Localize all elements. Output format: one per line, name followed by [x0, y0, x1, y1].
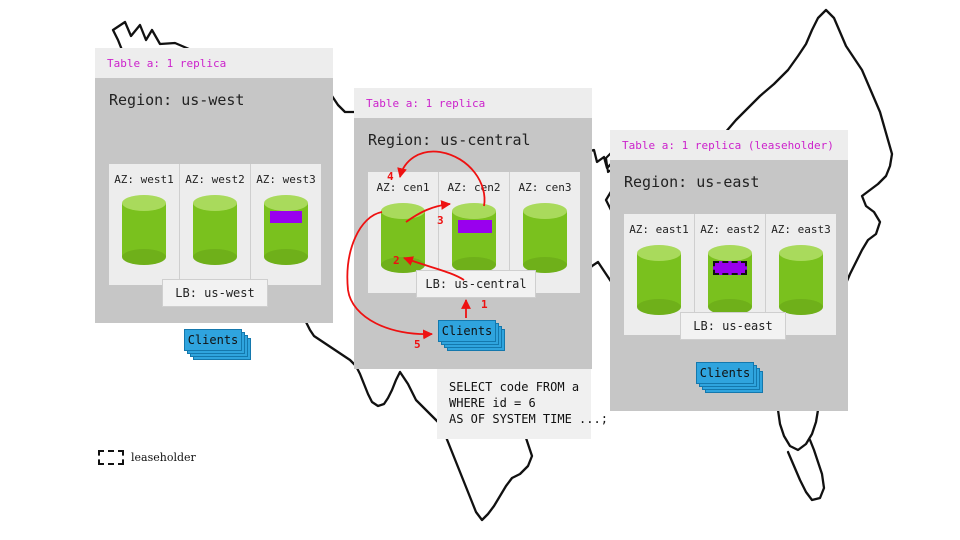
az-label: AZ: east1 [629, 223, 689, 236]
clients-stack-us-central[interactable]: Clients [438, 320, 502, 350]
cylinder-bottom [264, 249, 308, 265]
az-label: AZ: west1 [114, 173, 174, 186]
region-title-us-west: Region: us-west [95, 78, 333, 120]
replica-marker-leaseholder[interactable] [713, 261, 747, 275]
diagram-stage: Table a: 1 replica Region: us-west AZ: w… [0, 0, 960, 540]
region-banner-us-east: Table a: 1 replica (leaseholder) [610, 130, 848, 160]
clients-label[interactable]: Clients [438, 320, 496, 342]
az-label: AZ: east3 [771, 223, 831, 236]
az-west3[interactable]: AZ: west3 [251, 164, 321, 285]
region-title-us-central: Region: us-central [354, 118, 592, 160]
cylinder-bottom [122, 249, 166, 265]
cylinder-top [264, 195, 308, 211]
region-banner-us-central: Table a: 1 replica [354, 88, 592, 118]
node-cylinder[interactable] [523, 203, 567, 273]
node-cylinder[interactable] [779, 245, 823, 315]
cylinder-bottom [193, 249, 237, 265]
node-cylinder[interactable] [381, 203, 425, 273]
cylinder-top [122, 195, 166, 211]
node-cylinder[interactable] [708, 245, 752, 315]
region-panel-us-central[interactable]: Table a: 1 replica Region: us-central AZ… [354, 88, 592, 369]
region-banner-us-west: Table a: 1 replica [95, 48, 333, 78]
cylinder-bottom [637, 299, 681, 315]
sql-query-box: SELECT code FROM a WHERE id = 6 AS OF SY… [437, 369, 591, 439]
clients-label[interactable]: Clients [696, 362, 754, 384]
load-balancer-us-west[interactable]: LB: us-west [162, 279, 268, 307]
az-label: AZ: cen2 [448, 181, 501, 194]
az-row-us-west: AZ: west1 AZ: west2 AZ [109, 164, 321, 285]
replica-marker[interactable] [458, 220, 492, 233]
clients-stack-us-east[interactable]: Clients [696, 362, 760, 392]
cylinder-top [708, 245, 752, 261]
node-cylinder[interactable] [193, 195, 237, 265]
node-cylinder[interactable] [452, 203, 496, 273]
cylinder-top [381, 203, 425, 219]
az-label: AZ: west2 [185, 173, 245, 186]
node-cylinder[interactable] [637, 245, 681, 315]
cylinder-top [779, 245, 823, 261]
clients-stack-us-west[interactable]: Clients [184, 329, 248, 359]
legend-label: leaseholder [131, 451, 196, 464]
legend-leaseholder: leaseholder [98, 450, 196, 465]
az-west2[interactable]: AZ: west2 [180, 164, 251, 285]
cylinder-top [523, 203, 567, 219]
az-label: AZ: west3 [256, 173, 316, 186]
load-balancer-us-central[interactable]: LB: us-central [416, 270, 536, 298]
clients-label[interactable]: Clients [184, 329, 242, 351]
load-balancer-us-east[interactable]: LB: us-east [680, 312, 786, 340]
node-cylinder[interactable] [264, 195, 308, 265]
replica-marker[interactable] [270, 211, 302, 223]
cylinder-top [193, 195, 237, 211]
region-panel-us-west[interactable]: Table a: 1 replica Region: us-west AZ: w… [95, 48, 333, 323]
cylinder-top [637, 245, 681, 261]
az-label: AZ: cen3 [519, 181, 572, 194]
az-west1[interactable]: AZ: west1 [109, 164, 180, 285]
regions-layer: Table a: 1 replica Region: us-west AZ: w… [0, 0, 960, 540]
region-panel-us-east[interactable]: Table a: 1 replica (leaseholder) Region:… [610, 130, 848, 411]
az-label: AZ: east2 [700, 223, 760, 236]
node-cylinder[interactable] [122, 195, 166, 265]
region-title-us-east: Region: us-east [610, 160, 848, 202]
dashed-rect-icon [98, 450, 124, 465]
az-label: AZ: cen1 [377, 181, 430, 194]
cylinder-top [452, 203, 496, 219]
